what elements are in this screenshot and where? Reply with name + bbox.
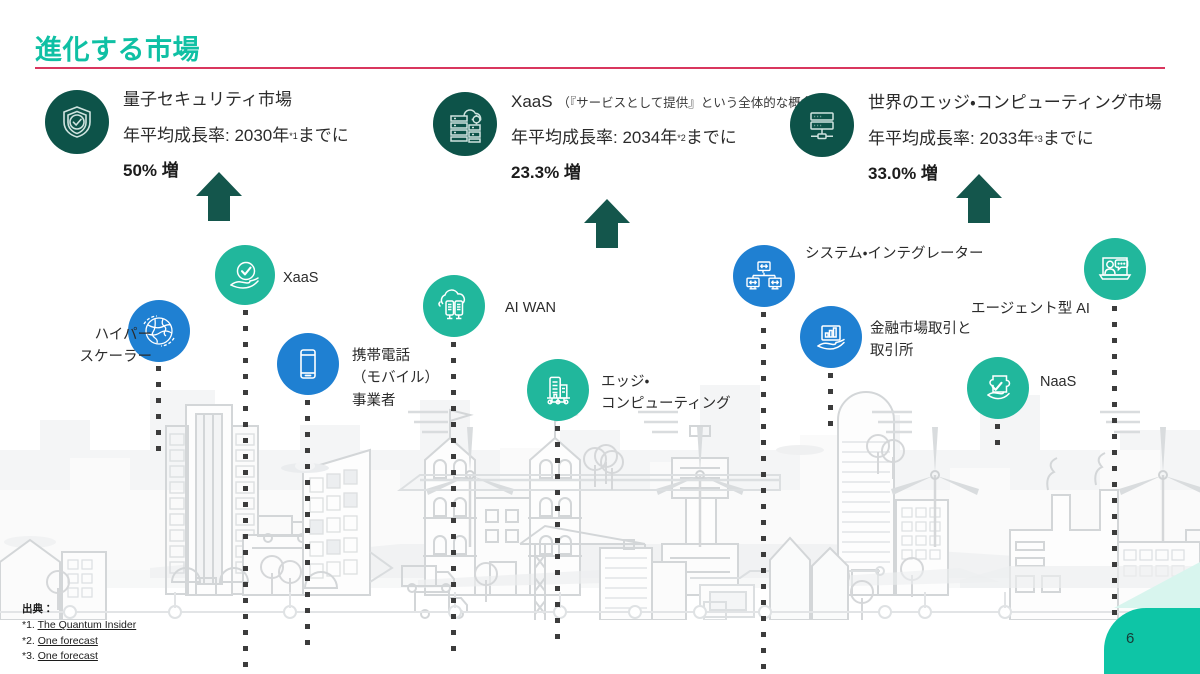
slide-root: 進化する市場 <box>0 0 1200 674</box>
growth-up-arrow-icon <box>583 197 631 249</box>
server-cloud-icon <box>433 92 497 156</box>
page-number: 6 <box>1126 630 1134 647</box>
connector-dots <box>156 366 161 462</box>
title-divider <box>35 67 1165 69</box>
connector-dots <box>243 310 248 674</box>
stat-period: 年平均成長率: 2030年*1までに <box>123 121 349 146</box>
node-label-system-integrator: システム・インテグレーター <box>805 243 984 265</box>
cloud-servers-icon <box>423 275 485 337</box>
page-title: 進化する市場 <box>35 28 200 67</box>
footnote-link[interactable]: One forecast <box>38 650 98 662</box>
building-node-icon <box>527 359 589 421</box>
footnote-line: *3. One forecast <box>22 649 136 664</box>
network-nodes-icon <box>733 245 795 307</box>
node-edge-computing[interactable] <box>527 359 589 421</box>
connector-dots <box>995 424 1000 456</box>
page-number-badge: 6 <box>1104 608 1200 674</box>
stat-title: 世界のエッジ・コンピューティング市場 <box>868 91 1162 116</box>
stat-percent: 23.3% 増 <box>511 158 856 183</box>
node-mobile-operator[interactable] <box>277 333 339 395</box>
footnote-ref: *2 <box>677 133 686 143</box>
connector-dots <box>451 342 456 662</box>
edge-server-icon <box>790 93 854 157</box>
stat-title-note: （『サービスとして提供』という全体的な概念) <box>557 96 817 110</box>
node-ai-wan[interactable] <box>423 275 485 337</box>
footnotes: 出典： *1. The Quantum Insider *2. One fore… <box>22 602 136 664</box>
node-agentic-ai[interactable] <box>1084 238 1146 300</box>
stat-percent: 33.0% 増 <box>868 159 1162 184</box>
shield-check-icon <box>45 90 109 154</box>
footnote-link[interactable]: One forecast <box>38 635 98 647</box>
connector-dots <box>828 373 833 437</box>
footnote-line: *2. One forecast <box>22 634 136 649</box>
footnote-link[interactable]: The Quantum Insider <box>38 619 137 631</box>
footnote-ref: *3 <box>1034 134 1043 144</box>
stat-title: 量子セキュリティ市場 <box>123 88 349 113</box>
node-xaas[interactable] <box>215 245 275 305</box>
puzzle-check-icon <box>967 357 1029 419</box>
connector-dots <box>555 426 560 650</box>
node-label-naas: NaaS <box>1040 371 1076 393</box>
growth-up-arrow-icon <box>195 170 243 222</box>
hand-check-icon <box>215 245 275 305</box>
node-financial-markets[interactable] <box>800 306 862 368</box>
node-naas[interactable] <box>967 357 1029 419</box>
connector-dots <box>305 400 310 656</box>
node-label-financial-markets: 金融市場取引と 取引所 <box>870 318 972 363</box>
smartphone-icon <box>277 333 339 395</box>
footnote-ref: *1 <box>289 131 298 141</box>
connector-dots <box>761 312 766 674</box>
node-label-mobile-operator: 携帯電話 （モバイル） 事業者 <box>352 345 439 412</box>
footnote-line: *1. The Quantum Insider <box>22 618 136 633</box>
laptop-chat-icon <box>1084 238 1146 300</box>
node-label-agentic-ai: エージェント型 AI <box>971 298 1090 320</box>
stat-period: 年平均成長率: 2033年*3までに <box>868 124 1162 149</box>
node-label-edge-computing: エッジ・ コンピューティング <box>601 371 731 416</box>
node-label-hyperscaler: ハイパー スケーラー <box>42 324 152 369</box>
node-system-integrator[interactable] <box>733 245 795 307</box>
node-label-xaas: XaaS <box>283 267 318 289</box>
source-heading: 出典： <box>22 602 136 617</box>
growth-up-arrow-icon <box>955 172 1003 224</box>
node-label-ai-wan: AI WAN <box>505 297 556 319</box>
hand-chart-icon <box>800 306 862 368</box>
